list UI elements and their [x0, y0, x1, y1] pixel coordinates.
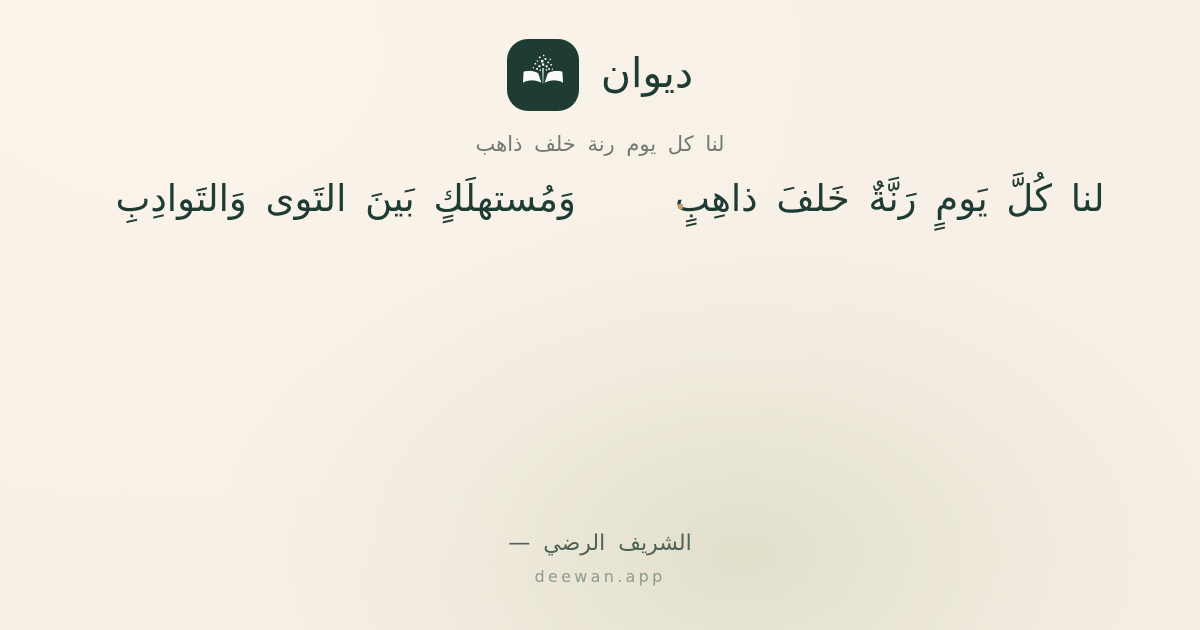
verse-second-hemistich: وَمُستهلَكٍ بَينَ التَوى وَالتَوادِبِ: [70, 173, 670, 226]
open-book-sparkles-icon: [520, 52, 566, 98]
brand-wordmark: ديوان: [601, 53, 693, 98]
poem-share-card: ديوان لنا كل يوم رنة خلف ذاهب لنا كُلَّ …: [0, 0, 1200, 630]
app-logo: [507, 39, 579, 111]
poet-attribution: الشريف الرضي —: [508, 531, 691, 557]
card-footer: الشريف الرضي — deewan.app: [0, 531, 1200, 586]
verse-separator-dot: [678, 204, 683, 209]
site-url: deewan.app: [534, 567, 665, 586]
poem-subtitle: لنا كل يوم رنة خلف ذاهب: [476, 132, 725, 157]
brand-header: ديوان: [507, 39, 693, 111]
verse-first-hemistich: لنا كُلَّ يَومٍ رَنَّةٌ خَلفَ ذاهِبٍ: [691, 173, 1131, 226]
verse-line: لنا كُلَّ يَومٍ رَنَّةٌ خَلفَ ذاهِبٍ وَم…: [0, 173, 1200, 226]
